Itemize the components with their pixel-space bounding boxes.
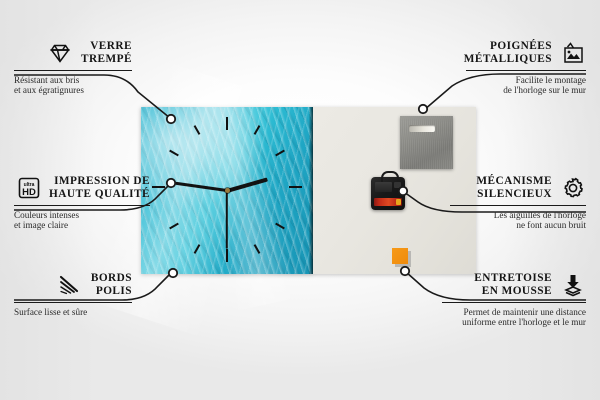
feature-title: POIGNÉES MÉTALLIQUES (464, 40, 552, 66)
hour-marker (152, 186, 165, 188)
feature-subtitle: Couleurs intenses et image claire (14, 210, 150, 231)
second-hand (226, 191, 228, 249)
feature-title: BORDS POLIS (91, 272, 132, 298)
hour-marker (169, 150, 179, 157)
feature-header: ultra HD IMPRESSION DE HAUTE QUALITÉ (14, 175, 150, 201)
hanger-slot (409, 125, 435, 132)
minute-hand (175, 182, 227, 192)
aa-battery (374, 198, 402, 206)
polished-edge-icon (57, 273, 83, 297)
hour-marker (194, 125, 201, 135)
feature-impression-haute-qualite[interactable]: ultra HD IMPRESSION DE HAUTE QUALITÉ Cou… (14, 175, 150, 231)
feature-bords-polis[interactable]: BORDS POLIS Surface lisse et sûre (14, 272, 132, 317)
clock-dial (141, 107, 313, 274)
feature-subtitle: Résistant aux bris et aux égratignures (14, 75, 132, 96)
feature-subtitle: Facilite le montage de l'horloge sur le … (466, 75, 586, 96)
feature-divider (14, 205, 150, 206)
feature-header: ENTRETOISE EN MOUSSE (442, 272, 586, 298)
orange-foam-spacer (392, 248, 408, 264)
svg-text:HD: HD (22, 187, 36, 198)
feature-header: VERRE TREMPÉ (14, 40, 132, 66)
feature-title: ENTRETOISE EN MOUSSE (474, 272, 552, 298)
hour-marker (275, 150, 285, 157)
gear-icon (560, 176, 586, 200)
hour-marker (275, 223, 285, 230)
metal-hanger-plate (400, 116, 453, 169)
hour-marker (254, 125, 261, 135)
feature-mecanisme-silencieux[interactable]: MÉCANISME SILENCIEUX Les aiguilles de l'… (450, 175, 586, 231)
hour-marker (289, 186, 302, 188)
feature-subtitle: Surface lisse et sûre (14, 307, 132, 318)
feature-header: MÉCANISME SILENCIEUX (450, 175, 586, 201)
diamond-icon (47, 41, 73, 65)
clock-center-hub (225, 188, 230, 193)
feature-divider (450, 205, 586, 206)
feature-title: MÉCANISME SILENCIEUX (476, 175, 552, 201)
feature-header: BORDS POLIS (14, 272, 132, 298)
feature-entretoise-en-mousse[interactable]: ENTRETOISE EN MOUSSE Permet de maintenir… (442, 272, 586, 328)
feature-header: POIGNÉES MÉTALLIQUES (466, 40, 586, 66)
hour-marker (194, 244, 201, 254)
movement-vent-small (394, 182, 401, 188)
feature-divider (14, 70, 132, 71)
feature-title: VERRE TREMPÉ (81, 40, 132, 66)
foam-spacer-icon (560, 273, 586, 297)
hour-marker (226, 249, 228, 262)
hour-marker (226, 117, 228, 130)
quartz-movement-box (371, 177, 405, 210)
feature-verre-trempe[interactable]: VERRE TREMPÉ Résistant aux bris et aux é… (14, 40, 132, 96)
feature-title: IMPRESSION DE HAUTE QUALITÉ (49, 175, 150, 201)
hour-marker (169, 223, 179, 230)
hour-marker (254, 244, 261, 254)
movement-vent (375, 182, 392, 192)
feature-divider (442, 302, 586, 303)
picture-hanger-icon (560, 41, 586, 65)
feature-subtitle: Permet de maintenir une distance uniform… (442, 307, 586, 328)
ultra-hd-icon: ultra HD (17, 176, 41, 200)
clock-face-front (141, 107, 313, 274)
feature-divider (466, 70, 586, 71)
feature-poignees-metalliques[interactable]: POIGNÉES MÉTALLIQUES Facilite le montage… (466, 40, 586, 96)
hour-hand (226, 178, 267, 193)
movement-hook (381, 171, 399, 182)
infographic-canvas: VERRE TREMPÉ Résistant aux bris et aux é… (0, 0, 600, 400)
feature-divider (14, 302, 132, 303)
feature-subtitle: Les aiguilles de l'horloge ne font aucun… (450, 210, 586, 231)
